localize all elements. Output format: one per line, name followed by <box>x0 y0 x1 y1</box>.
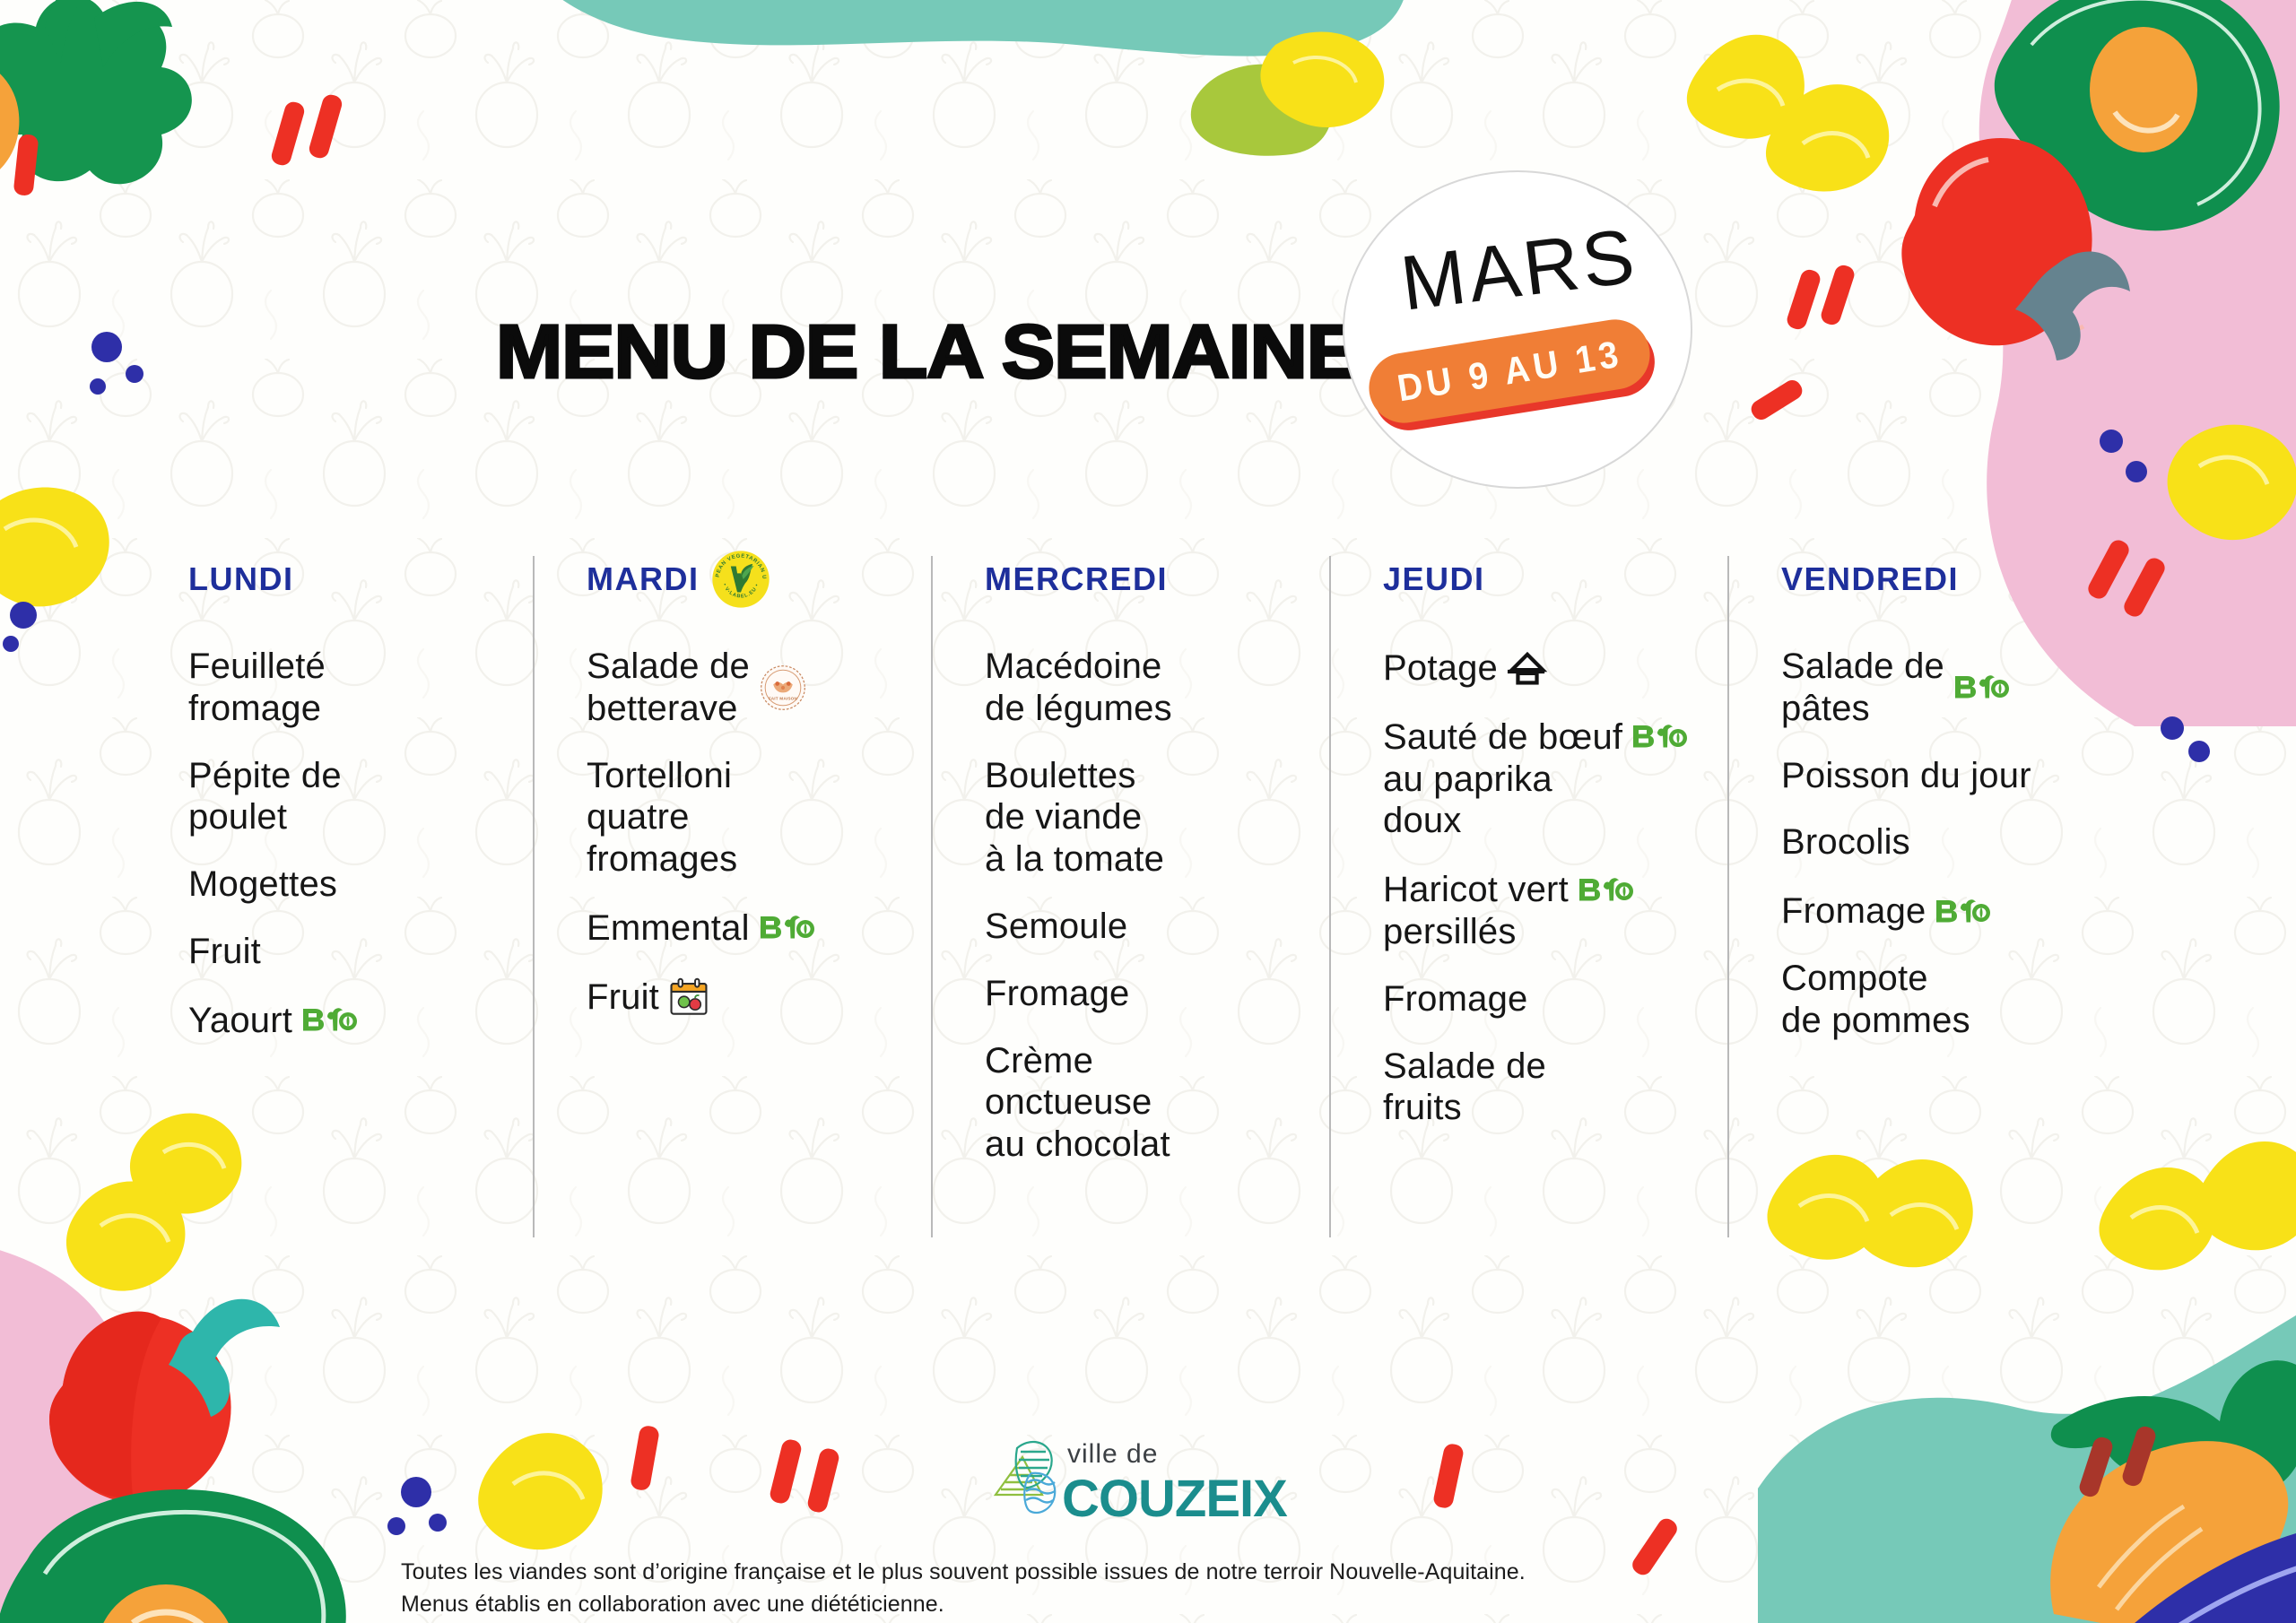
menu-items-lundi: Feuilleté fromage Pépite de poulet Moget… <box>188 646 533 1042</box>
deco-carrot-bottom-right <box>2000 1291 2296 1623</box>
menu-item: Emmental <box>587 906 931 950</box>
deco-olive-shape-top <box>1175 54 1354 161</box>
menu-items-vendredi: Salade de pâtes Poiss <box>1781 646 2126 1042</box>
weekly-menu-grid: LUNDI Feuilleté fromage Pépite de poulet… <box>188 556 2126 1237</box>
menu-item: Crème onctueuse au chocolat <box>985 1040 1329 1166</box>
deco-red-dashes-top-left <box>269 94 386 193</box>
day-header-mardi: MARDI EUROPEAN VEGETARIAN UNION • V-LABE… <box>587 556 931 603</box>
menu-item: Salade de betterave FAIT MAISON <box>587 646 931 730</box>
menu-item-label: Salade de fruits <box>1383 1046 1546 1128</box>
day-header-jeudi: JEUDI <box>1383 556 1727 603</box>
day-header-lundi: LUNDI <box>188 556 533 603</box>
deco-carrot-top-left <box>0 0 314 314</box>
menu-item-label: Fromage <box>1781 890 1926 933</box>
menu-item-label: Fromage <box>985 974 1129 1013</box>
menu-item: Salade de fruits <box>1383 1046 1727 1130</box>
deco-blue-dots-right-lower <box>2152 708 2233 780</box>
deco-yellow-pasta-top <box>1239 27 1437 170</box>
day-header-mercredi: MERCREDI <box>985 556 1329 603</box>
menu-item-label: Boulettes de viande à la tomate <box>985 756 1164 880</box>
menu-item: Semoule <box>985 906 1329 948</box>
fait-maison-seal-icon: FAIT MAISON <box>759 664 807 712</box>
deco-strawberry-bottom-left <box>27 1282 323 1533</box>
menu-item-label: Poisson du jour <box>1781 756 2031 795</box>
menu-item-label: Emmental <box>587 907 750 950</box>
svg-text:FAIT MAISON: FAIT MAISON <box>769 696 797 700</box>
menu-item: Macédoine de légumes <box>985 646 1329 730</box>
menu-item-label: Tortelloni quatre fromages <box>587 756 737 880</box>
menu-item: Tortelloni quatre fromages <box>587 755 931 881</box>
seasonal-calendar-icon <box>668 977 709 1017</box>
day-column-mercredi: MERCREDI Macédoine de légumes Boulettes … <box>931 556 1329 1237</box>
deco-red-dash-bottom-right-area <box>1426 1435 1507 1533</box>
deco-yellow-pasta-top-right <box>1686 27 1937 251</box>
menu-item: Potage <box>1383 646 1727 690</box>
deco-tomato-top-right <box>1861 108 2148 377</box>
vegetarian-v-label-icon: EUROPEAN VEGETARIAN UNION • V-LABEL.EU • <box>711 550 770 609</box>
menu-item-label: Compote de pommes <box>1781 959 1970 1040</box>
svg-text:ville de: ville de <box>1067 1439 1158 1469</box>
menu-item: Yaourt <box>188 998 533 1042</box>
menu-items-mardi: Salade de betterave FAIT MAISON <box>587 646 931 1019</box>
deco-avocado-bottom-left <box>0 1444 377 1623</box>
bio-icon <box>1953 673 2009 703</box>
deco-blue-dots-right <box>2090 421 2170 502</box>
menu-item: Haricot vert persillés <box>1383 867 1727 953</box>
menu-item: Salade de pâtes <box>1781 646 2126 730</box>
homemade-house-icon <box>1507 651 1548 685</box>
page-title: MENU DE LA SEMAINE <box>496 308 1359 395</box>
menu-item: Fromage <box>1383 978 1727 1020</box>
menu-item-label: Fruit <box>587 976 659 1019</box>
menu-item-label: Sauté de bœuf <box>1383 716 1622 759</box>
menu-item-label: Brocolis <box>1781 822 1910 862</box>
menu-items-jeudi: Potage Sauté de bœuf <box>1383 646 1727 1129</box>
menu-item-label: Haricot vert <box>1383 869 1569 911</box>
deco-blue-courgette-bottom-right <box>2063 1480 2296 1623</box>
day-column-jeudi: JEUDI Potage Sauté <box>1329 556 1727 1237</box>
deco-blue-dots-bottom-left <box>386 1471 475 1551</box>
deco-red-dash-right <box>1758 359 1848 439</box>
deco-blue-dots-top-left <box>85 327 166 399</box>
menu-item-label: Salade de betterave <box>587 646 750 730</box>
deco-red-dashes-top-right <box>1785 260 1910 377</box>
menu-item-label: Salade de pâtes <box>1781 646 1944 730</box>
menu-item: Pépite de poulet <box>188 755 533 839</box>
couzeix-logo: ville de COUZEIX <box>987 1432 1327 1532</box>
menu-item-label: Mogettes <box>188 864 337 904</box>
menu-item: Brocolis <box>1781 821 2126 864</box>
deco-pink-blob-bottom-left <box>0 1184 251 1623</box>
deco-yellow-blob-left <box>0 466 161 637</box>
menu-item-label: Semoule <box>985 907 1127 946</box>
bio-icon <box>301 1005 357 1036</box>
day-title-vendredi: VENDREDI <box>1781 560 1959 598</box>
footer-line-2: Menus établis en collaboration avec une … <box>401 1588 1926 1620</box>
menu-item: Mogettes <box>188 864 533 906</box>
footer-line-1: Toutes les viandes sont d’origine frança… <box>401 1556 1926 1588</box>
day-title-mercredi: MERCREDI <box>985 560 1168 598</box>
month-badge: MARS DU 9 AU 13 <box>1343 170 1692 489</box>
day-title-mardi: MARDI <box>587 560 699 598</box>
day-column-mardi: MARDI EUROPEAN VEGETARIAN UNION • V-LABE… <box>533 556 931 1237</box>
menu-item: Sauté de bœuf au paprika doux <box>1383 715 1727 842</box>
bio-icon <box>1578 875 1633 906</box>
menu-item-label: Pépite de poulet <box>188 756 342 838</box>
bio-icon <box>1935 897 1990 927</box>
bio-icon <box>759 913 814 943</box>
svg-text:COUZEIX: COUZEIX <box>1062 1470 1288 1528</box>
menu-item-label: Potage <box>1383 647 1498 690</box>
bio-icon <box>1631 722 1687 752</box>
deco-red-dashes-bottom-center <box>619 1417 691 1515</box>
day-column-lundi: LUNDI Feuilleté fromage Pépite de poulet… <box>188 556 533 1237</box>
menu-poster: MENU DE LA SEMAINE MARS DU 9 AU 13 LUNDI… <box>0 0 2296 1623</box>
menu-item: Boulettes de viande à la tomate <box>985 755 1329 881</box>
deco-red-dashes-bottom-center2 <box>767 1430 883 1538</box>
menu-items-mercredi: Macédoine de légumes Boulettes de viande… <box>985 646 1329 1166</box>
menu-item: Fromage <box>1781 889 2126 933</box>
menu-item: Poisson du jour <box>1781 755 2126 797</box>
deco-yellow-pasta-bottom-far-right <box>2099 1148 2296 1327</box>
deco-teal-blob-top <box>484 0 1471 161</box>
menu-item: Fruit <box>587 975 931 1019</box>
menu-item-label: Yaourt <box>188 1000 292 1042</box>
menu-item-label: Fruit <box>188 932 261 971</box>
menu-item: Feuilleté fromage <box>188 646 533 730</box>
day-header-vendredi: VENDREDI <box>1781 556 2126 603</box>
menu-item: Fromage <box>985 973 1329 1015</box>
day-title-lundi: LUNDI <box>188 560 294 598</box>
menu-item: Fruit <box>188 931 533 973</box>
menu-item-label: Fromage <box>1383 979 1527 1019</box>
deco-blue-dots-left <box>0 592 63 655</box>
day-column-vendredi: VENDREDI Salade de pâtes <box>1727 556 2126 1237</box>
menu-item-label-cont: persillés <box>1383 911 1727 953</box>
menu-item: Compote de pommes <box>1781 958 2126 1042</box>
menu-item-label-cont: au paprika doux <box>1383 759 1727 843</box>
footer-note: Toutes les viandes sont d’origine frança… <box>401 1556 1926 1621</box>
menu-item-label: Feuilleté fromage <box>188 647 326 728</box>
menu-item-label: Macédoine de légumes <box>985 647 1172 728</box>
menu-item-label: Crème onctueuse au chocolat <box>985 1041 1170 1165</box>
deco-avocado-top-right <box>1919 0 2296 278</box>
deco-yellow-blob-right <box>2161 404 2296 556</box>
day-title-jeudi: JEUDI <box>1383 560 1485 598</box>
